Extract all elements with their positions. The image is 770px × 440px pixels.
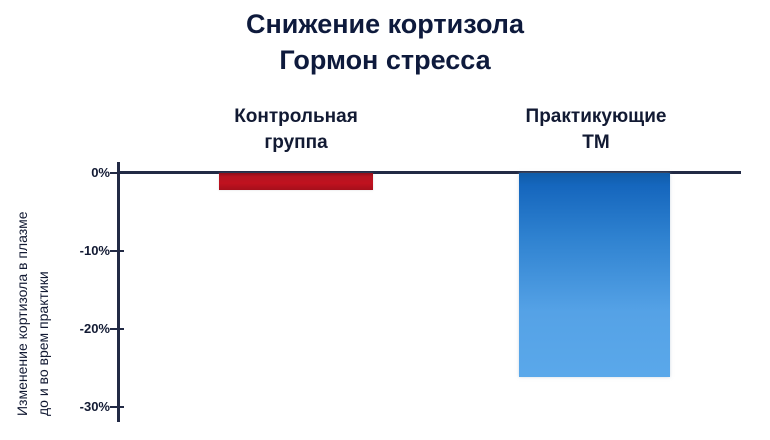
y-tick-mark-2 bbox=[110, 328, 124, 330]
y-tick-0: 0% bbox=[0, 166, 110, 180]
y-tick-mark-3 bbox=[110, 406, 124, 408]
y-axis-title-line-1: Изменение кортизола в плазме bbox=[14, 211, 30, 416]
y-tick-label-0: 0% bbox=[54, 166, 110, 180]
y-tick-label-1: -10% bbox=[54, 244, 110, 258]
cortisol-reduction-chart: Снижение кортизола Гормон стресса Контро… bbox=[0, 0, 770, 440]
y-tick-mark-1 bbox=[110, 250, 124, 252]
bar-tm-practitioners bbox=[519, 173, 670, 377]
y-tick-label-2: -20% bbox=[54, 322, 110, 336]
y-axis-title-line-2: до и во врем практики bbox=[35, 271, 51, 416]
plot-area: 0% -10% -20% -30% Изменение кортизола в … bbox=[0, 0, 770, 440]
y-tick-mark-0 bbox=[110, 172, 124, 174]
bar-control-group bbox=[219, 173, 373, 190]
y-axis-line bbox=[117, 162, 120, 422]
y-tick-label-3: -30% bbox=[54, 400, 110, 414]
